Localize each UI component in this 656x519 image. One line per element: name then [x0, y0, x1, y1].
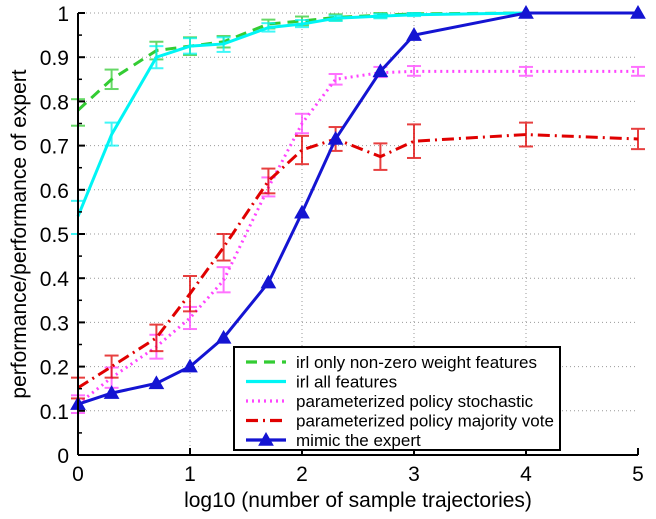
- chart-legend: irl only non-zero weight featuresirl all…: [234, 347, 560, 450]
- y-tick-label: 1: [57, 3, 69, 26]
- x-axis-title: log10 (number of sample trajectories): [184, 489, 532, 512]
- y-tick-label: 0.3: [40, 312, 69, 335]
- legend-label: irl only non-zero weight features: [296, 353, 537, 372]
- y-tick-label: 0.4: [40, 268, 70, 291]
- y-axis-title: performance/performance of expert: [8, 69, 31, 398]
- legend-label: parameterized policy majority vote: [296, 412, 554, 431]
- chart-canvas: 00.10.20.30.40.50.60.70.80.91012345 log1…: [0, 0, 656, 519]
- y-tick-label: 0.8: [40, 91, 69, 114]
- x-tick-label: 4: [520, 463, 532, 486]
- x-tick-label: 1: [184, 463, 196, 486]
- y-tick-label: 0.9: [40, 47, 69, 70]
- y-tick-label: 0.6: [40, 180, 69, 203]
- x-tick-label: 5: [632, 463, 644, 486]
- legend-label: irl all features: [296, 373, 397, 392]
- x-tick-label: 0: [72, 463, 84, 486]
- y-tick-label: 0.5: [40, 224, 69, 247]
- legend-label: parameterized policy stochastic: [296, 392, 534, 411]
- y-tick-label: 0.2: [40, 357, 69, 380]
- y-tick-label: 0.1: [40, 401, 69, 424]
- x-tick-label: 3: [408, 463, 420, 486]
- y-tick-label: 0: [57, 445, 69, 468]
- x-tick-label: 2: [296, 463, 308, 486]
- y-tick-label: 0.7: [40, 136, 69, 159]
- legend-label: mimic the expert: [296, 431, 421, 450]
- chart-figure: 00.10.20.30.40.50.60.70.80.91012345 log1…: [0, 0, 656, 519]
